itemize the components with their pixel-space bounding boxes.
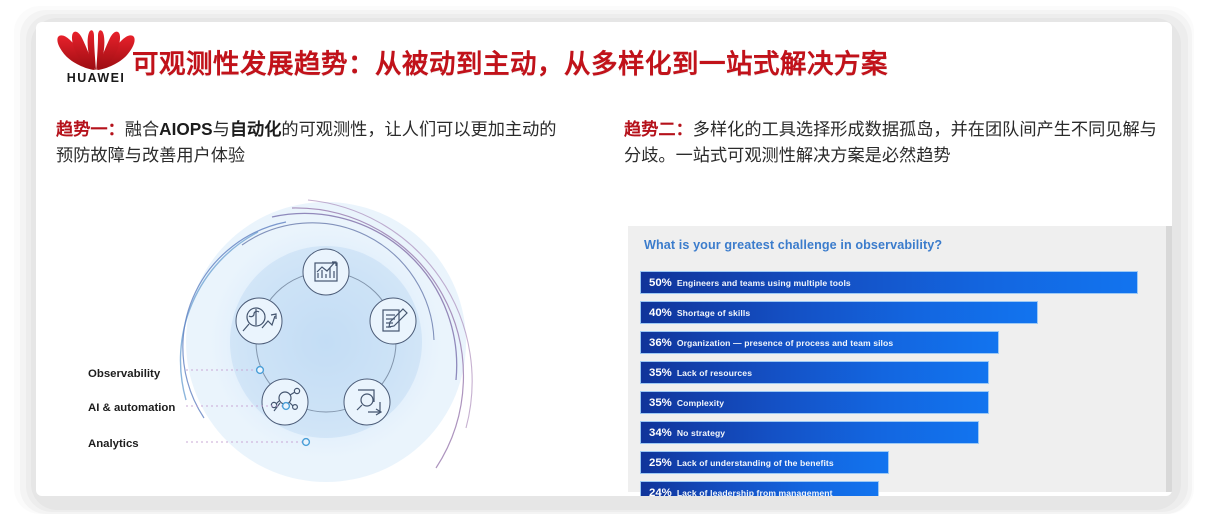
circle-diagram-svg [36,190,576,496]
chart-bar-value: 36% [641,337,672,349]
right-column: 趋势二：多样化的工具选择形成数据孤岛，并在团队间产生不同见解与分歧。一站式可观测… [588,104,1172,496]
chart-bars: 50%Engineers and teams using multiple to… [640,271,1166,496]
chart-bar-label: Shortage of skills [672,308,750,318]
legend-label-ai-automation: AI & automation [88,402,175,414]
trend-two-text: 趋势二：多样化的工具选择形成数据孤岛，并在团队间产生不同见解与分歧。一站式可观测… [624,116,1162,168]
diagram-node-network [262,379,308,425]
diagram-node-document [370,298,416,344]
chart-bar-value: 35% [641,397,672,409]
connector-dot-analytics [303,439,310,446]
diagram-node-bar-chart [303,249,349,295]
chart-title: What is your greatest challenge in obser… [644,238,942,252]
chart-bar-label: Lack of understanding of the benefits [672,458,834,468]
chart-bar: 35%Lack of resources [640,361,989,384]
chart-bar: 40%Shortage of skills [640,301,1038,324]
chart-bar-label: No strategy [672,428,725,438]
chart-bar-label: Organization — presence of process and t… [672,338,893,348]
trend-one-part-c: 的可观测性，让 [281,119,401,139]
chart-bar-row: 36%Organization — presence of process an… [640,331,1166,354]
connector-dot-observability [257,367,264,374]
chart-bar-value: 34% [641,427,672,439]
legend-label-analytics: Analytics [88,438,139,450]
chart-bar-label: Lack of leadership from management [672,488,833,497]
observability-survey-chart: What is your greatest challenge in obser… [628,226,1172,492]
slide-surface: HUAWEI 可观测性发展趋势：从被动到主动，从多样化到一站式解决方案 趋势一：… [36,22,1172,496]
trend-one-lead: 趋势一： [56,119,125,139]
page-title: 可观测性发展趋势：从被动到主动，从多样化到一站式解决方案 [132,42,888,81]
trend-one-bold-aiops: AIOPS [159,119,212,139]
chart-bar-row: 40%Shortage of skills [640,301,1166,324]
trend-two-body: 多样化的工具选择形成数据孤岛，并在团队间产生不同见解与分歧。一站式可观测性解决方… [624,119,1157,165]
chart-bar-row: 35%Complexity [640,391,1166,414]
slide-canvas: HUAWEI 可观测性发展趋势：从被动到主动，从多样化到一站式解决方案 趋势一：… [0,0,1210,530]
chart-bar: 34%No strategy [640,421,979,444]
chart-bar-label: Complexity [672,398,724,408]
chart-bar-value: 35% [641,367,672,379]
chart-bar: 24%Lack of leadership from management [640,481,879,496]
trend-two-lead: 趋势二： [624,119,693,139]
chart-bar: 50%Engineers and teams using multiple to… [640,271,1138,294]
trend-one-text: 趋势一：融合AIOPS与自动化的可观测性，让人们可以更加主动的预防故障与改善用户… [56,116,560,168]
chart-bar-row: 34%No strategy [640,421,1166,444]
chart-bar-row: 24%Lack of leadership from management [640,481,1166,496]
trend-one-part-a: 融合 [125,119,159,139]
huawei-wordmark: HUAWEI [48,71,144,85]
observability-circle-diagram: Observability AI & automation Analytics [36,190,576,496]
chart-bar-value: 24% [641,487,672,497]
huawei-logo: HUAWEI [48,30,144,92]
slide-header: HUAWEI 可观测性发展趋势：从被动到主动，从多样化到一站式解决方案 [36,22,1172,100]
trend-one-part-b: 与 [213,119,230,139]
huawei-flower-logo-icon [48,30,144,72]
chart-bar-row: 25%Lack of understanding of the benefits [640,451,1166,474]
trend-one-block: 趋势一：融合AIOPS与自动化的可观测性，让人们可以更加主动的预防故障与改善用户… [56,116,560,168]
chart-bar-label: Engineers and teams using multiple tools [672,278,851,288]
legend-label-observability: Observability [88,368,160,380]
chart-bar-value: 40% [641,307,672,319]
chart-bar-label: Lack of resources [672,368,752,378]
diagram-node-workflow [344,379,390,425]
trend-one-bold-automation: 自动化 [230,119,282,139]
connector-dot-ai-automation [283,403,290,410]
chart-bar-row: 35%Lack of resources [640,361,1166,384]
chart-bar: 36%Organization — presence of process an… [640,331,999,354]
diagram-node-dollar [236,298,282,344]
trend-two-block: 趋势二：多样化的工具选择形成数据孤岛，并在团队间产生不同见解与分歧。一站式可观测… [624,116,1162,168]
chart-bar: 35%Complexity [640,391,989,414]
chart-bar-row: 50%Engineers and teams using multiple to… [640,271,1166,294]
chart-bar: 25%Lack of understanding of the benefits [640,451,889,474]
chart-panel-scrollbar[interactable] [1166,226,1172,492]
left-column: 趋势一：融合AIOPS与自动化的可观测性，让人们可以更加主动的预防故障与改善用户… [36,104,576,496]
chart-bar-value: 25% [641,457,672,469]
chart-bar-value: 50% [641,277,672,289]
